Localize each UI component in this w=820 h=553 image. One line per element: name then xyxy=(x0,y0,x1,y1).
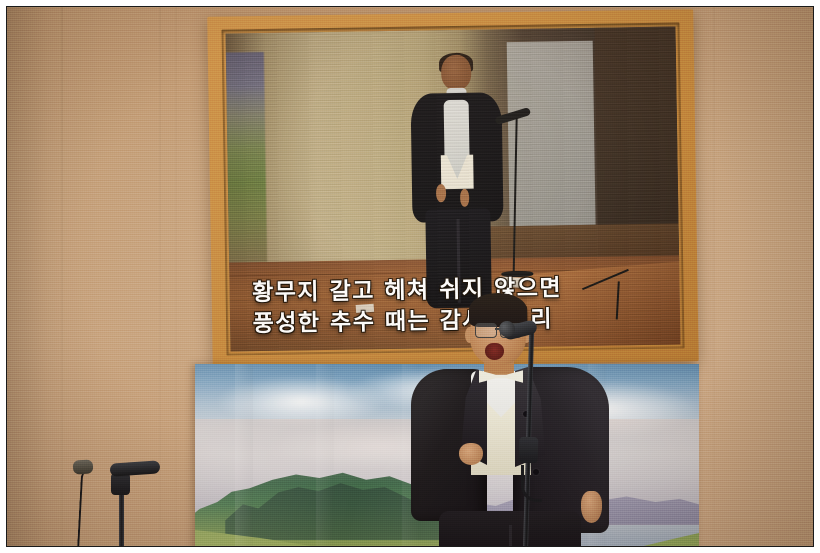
wall-panel-shadow xyxy=(7,7,65,546)
photograph: 황무지 갈고 헤쳐 쉬지 않으면 풍성한 추수 때는 감사뿐이리 xyxy=(0,0,820,553)
stage-microphone-cable xyxy=(77,468,105,546)
singer-hand-right xyxy=(581,491,602,523)
stage-scene: 황무지 갈고 헤쳐 쉬지 않으면 풍성한 추수 때는 감사뿐이리 xyxy=(7,7,813,546)
front-microphone-clip xyxy=(519,437,539,464)
front-microphone-cable xyxy=(521,465,542,502)
singer-hair xyxy=(469,293,527,327)
wall-seam xyxy=(175,7,177,546)
singer-open-mouth xyxy=(485,343,504,360)
eyeglasses-icon xyxy=(475,323,497,338)
stage-microphone-clip xyxy=(111,473,130,495)
singer-hand-left xyxy=(459,443,483,465)
wall-seam xyxy=(61,7,63,546)
stage-microphone-grille xyxy=(73,459,94,474)
photo-keyline-border: 황무지 갈고 헤쳐 쉬지 않으면 풍성한 추수 때는 감사뿐이리 xyxy=(6,6,814,547)
wall-seam xyxy=(713,7,715,546)
singer-trouser-seam xyxy=(509,525,512,546)
